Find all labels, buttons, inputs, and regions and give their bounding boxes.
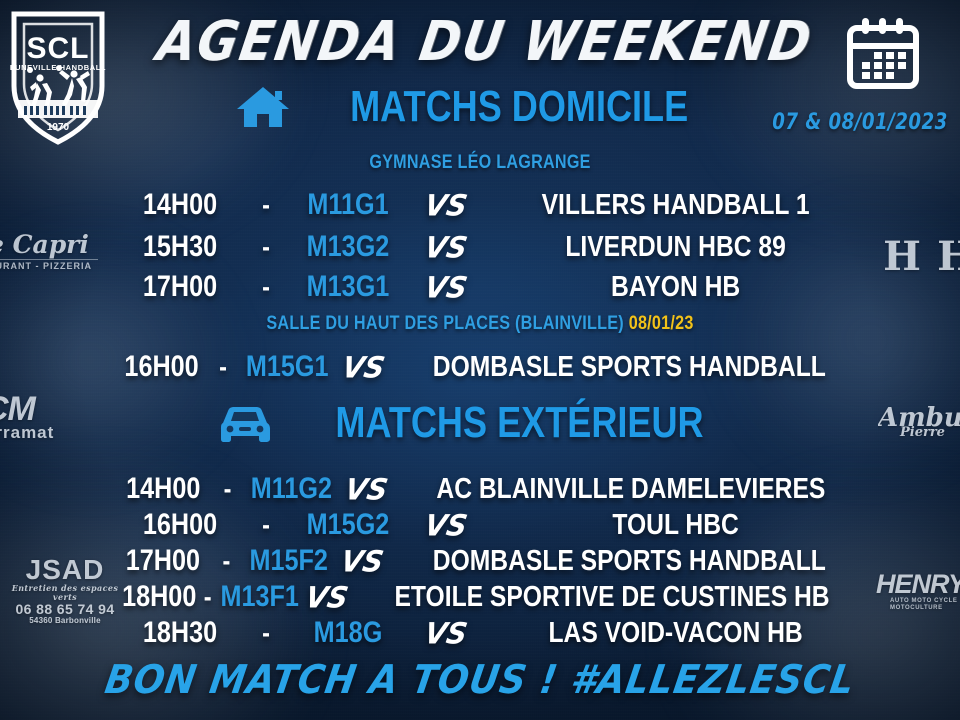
match-time: 18H00 [122, 580, 196, 614]
section-header-away-label: MATCHS EXTÉRIEUR [335, 398, 703, 448]
venue-name-1: GYMNASE LÉO LAGRANGE [369, 152, 590, 173]
opponent-name: VILLERS HANDBALL 1 [519, 189, 924, 222]
footer-slogan: BON MATCH A TOUS ! #ALLEZLESCL [0, 658, 960, 703]
sponsor-jsad-phone: 06 88 65 74 94 [6, 602, 124, 617]
opponent-name: TOUL HBC [519, 509, 924, 542]
sponsor-capri-name: e Capri [0, 232, 98, 258]
sponsor-logo-capri: e Capri AURANT - PIZZERIA [0, 232, 98, 298]
sponsor-h2-name: H [934, 238, 960, 276]
opponent-name: LIVERDUN HBC 89 [519, 231, 924, 264]
vs-label: VS [406, 616, 486, 651]
team-code: M15F2 [249, 544, 327, 578]
opponent-name: LAS VOID-VACON HB [519, 617, 924, 650]
table-row: 15H30 - M13G2 VS LIVERDUN HBC 89 [0, 228, 960, 266]
table-row: 16H00 - M15G1 VS DOMBASLE SPORTS HANDBAL… [0, 348, 960, 386]
page-title: AGENDA DU WEEKEND [190, 8, 780, 74]
vs-label: VS [334, 350, 393, 385]
vs-label: VS [406, 230, 486, 265]
sponsor-henry-name: HENRY [876, 570, 960, 598]
vs-label: VS [303, 580, 351, 615]
match-separator: - [248, 231, 283, 263]
team-code: M13G2 [297, 230, 399, 264]
opponent-name: AC BLAINVILLE DAMELEVIERES [437, 473, 918, 506]
sponsor-jsad-address: 54360 Barbonville [6, 617, 124, 625]
match-time: 16H00 [125, 508, 234, 542]
sponsor-logo-jsad: JSAD Entretien des espaces verts 06 88 6… [6, 555, 124, 631]
match-time: 17H00 [123, 544, 203, 578]
poster-canvas: SCL LUNEVILLE HANDBALL [0, 0, 960, 720]
team-code: M18G [297, 616, 399, 650]
section-header-home-label: MATCHS DOMICILE [350, 82, 688, 132]
opponent-name: DOMBASLE SPORTS HANDBALL [432, 545, 917, 578]
sponsor-logo-cm: CM orramat [0, 392, 92, 454]
sponsor-logo-h-monogram-2: H [934, 238, 960, 300]
match-separator: - [248, 271, 283, 303]
sponsor-jsad-tagline: Entretien des espaces verts [6, 584, 124, 601]
opponent-name: ETOILE SPORTIVE DE CUSTINES HB [394, 581, 921, 614]
match-separator: - [204, 581, 212, 613]
venue-line-1: GYMNASE LÉO LAGRANGE [72, 152, 888, 174]
page-title-text: AGENDA DU WEEKEND [153, 9, 817, 73]
match-time: 16H00 [122, 350, 200, 384]
match-separator: - [214, 473, 240, 505]
house-icon [235, 83, 291, 131]
vs-label: VS [406, 270, 486, 305]
team-code: M15G2 [297, 508, 399, 542]
table-row: 18H00 - M13F1 VS ETOILE SPORTIVE DE CUST… [0, 578, 960, 616]
table-row: 17H00 - M15F2 VS DOMBASLE SPORTS HANDBAL… [0, 542, 960, 580]
sponsor-h1-name: H [880, 238, 924, 276]
svg-text:SCL: SCL [27, 32, 90, 65]
vs-label: VS [406, 188, 486, 223]
match-time: 15H30 [125, 230, 234, 264]
match-time: 17H00 [125, 270, 234, 304]
table-row: 18H30 - M18G VS LAS VOID-VACON HB [0, 614, 960, 652]
sponsor-logo-henry: HENRY AUTO MOTO CYCLE MOTOCULTURE [876, 570, 960, 622]
sponsor-capri-sub: AURANT - PIZZERIA [0, 259, 98, 271]
match-time: 14H00 [123, 472, 204, 506]
team-code: M15G1 [246, 350, 329, 384]
table-row: 14H00 - M11G1 VS VILLERS HANDBALL 1 [0, 186, 960, 224]
team-code: M11G2 [250, 472, 331, 506]
table-row: 14H00 - M11G2 VS AC BLAINVILLE DAMELEVIE… [0, 470, 960, 508]
match-time: 18H30 [125, 616, 234, 650]
match-time: 14H00 [125, 188, 234, 222]
team-code: M11G1 [297, 188, 399, 222]
vs-label: VS [332, 544, 393, 579]
section-header-home: MATCHS DOMICILE [0, 82, 960, 132]
sponsor-logo-h-monogram-1: H [880, 238, 924, 300]
vs-label: VS [406, 508, 486, 543]
sponsor-logo-ambulance: Ambulan Pierre [878, 405, 960, 460]
sponsor-cm-sub: orramat [0, 424, 92, 442]
vs-label: VS [336, 472, 397, 507]
match-separator: - [213, 545, 239, 577]
section-header-away: MATCHS EXTÉRIEUR [0, 398, 960, 448]
venue-name-2: SALLE DU HAUT DES PLACES (BLAINVILLE) [266, 313, 624, 334]
match-separator: - [248, 189, 283, 221]
venue-line-2: SALLE DU HAUT DES PLACES (BLAINVILLE) 08… [72, 313, 888, 335]
opponent-name: DOMBASLE SPORTS HANDBALL [432, 351, 917, 384]
match-separator: - [248, 617, 283, 649]
table-row: 16H00 - M15G2 VS TOUL HBC [0, 506, 960, 544]
match-separator: - [248, 509, 283, 541]
car-icon [217, 399, 273, 447]
venue-date-2: 08/01/23 [629, 313, 694, 334]
team-code: M13G1 [297, 270, 399, 304]
opponent-name: BAYON HB [519, 271, 924, 304]
sponsor-henry-sub: AUTO MOTO CYCLE MOTOCULTURE [890, 598, 960, 611]
sponsor-jsad-name: JSAD [6, 555, 124, 584]
table-row: 17H00 - M13G1 VS BAYON HB [0, 268, 960, 306]
team-code: M13F1 [220, 580, 298, 614]
match-separator: - [211, 351, 236, 383]
